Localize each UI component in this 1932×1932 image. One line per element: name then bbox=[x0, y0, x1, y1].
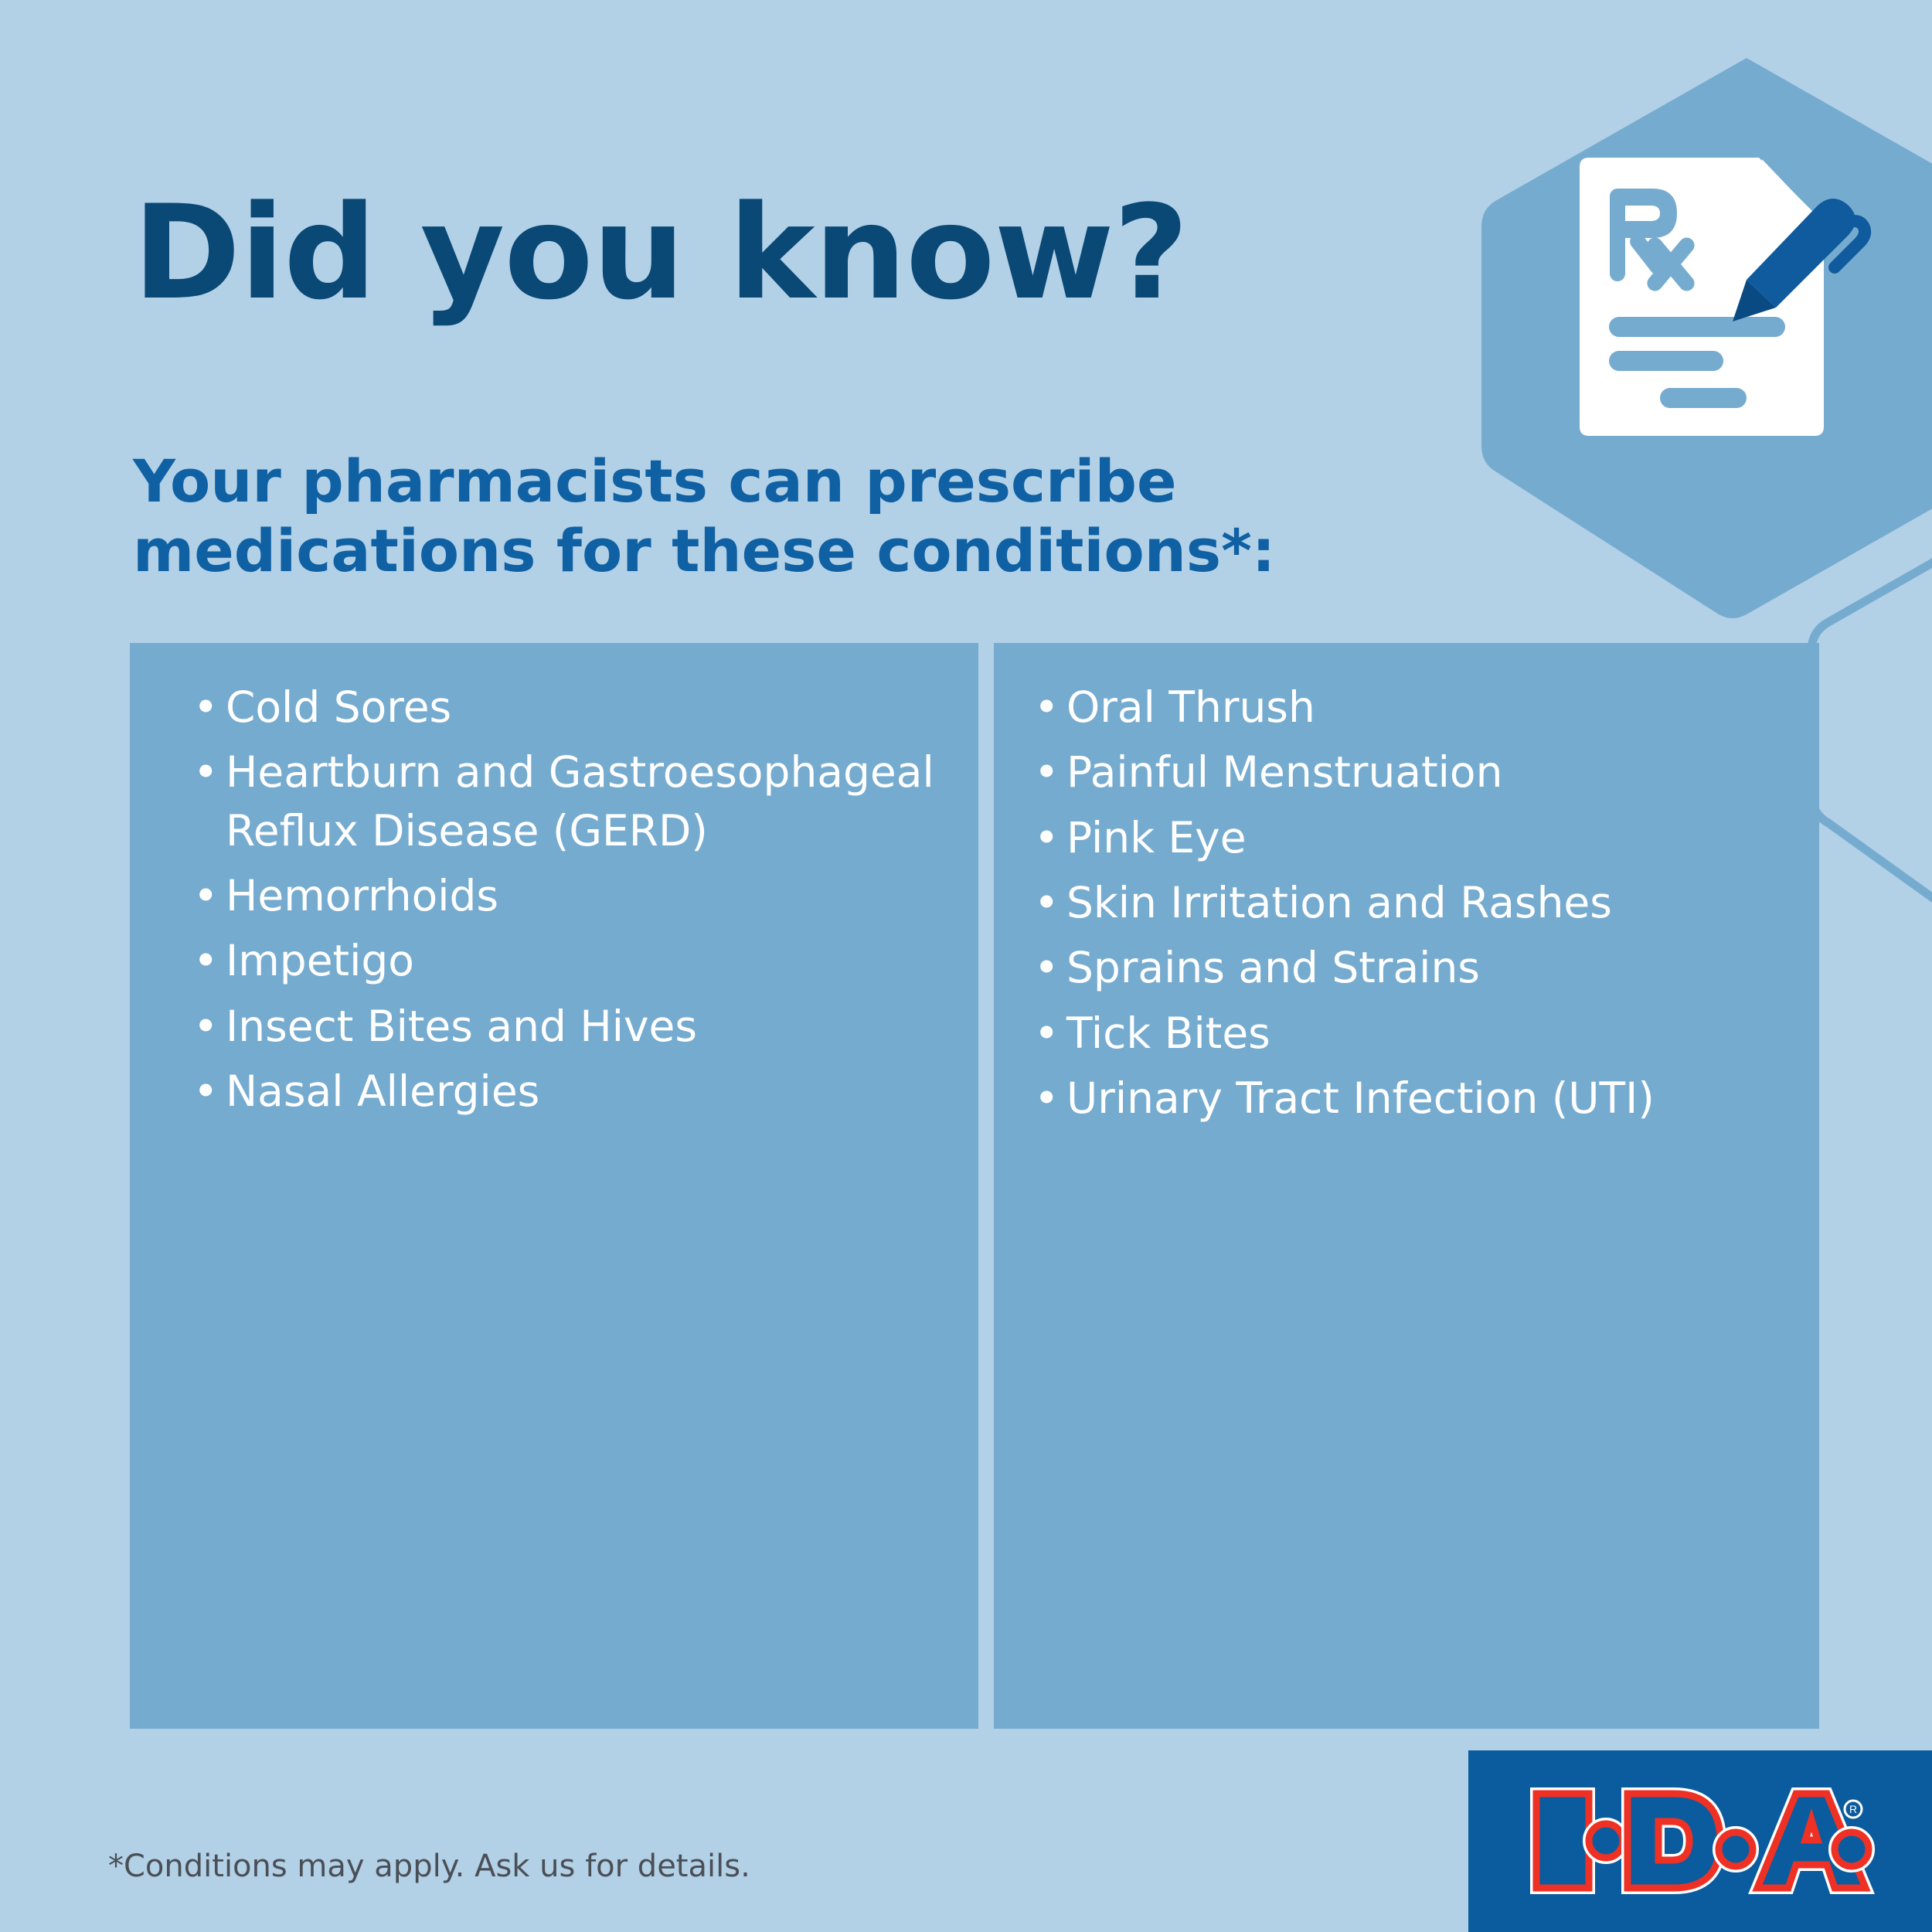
list-item: Heartburn and Gastroesophageal Reflux Di… bbox=[185, 743, 947, 860]
page-title: Did you know? bbox=[133, 188, 1408, 318]
rx-prescription-document-with-pen-icon bbox=[1569, 155, 1878, 464]
list-item: Urinary Tract Infection (UTI) bbox=[1026, 1070, 1788, 1128]
page-subtitle: Your pharmacists can prescribe medicatio… bbox=[133, 447, 1338, 585]
list-item: Cold Sores bbox=[185, 679, 947, 736]
conditions-panels: Cold SoresHeartburn and Gastroesophageal… bbox=[130, 643, 1819, 1729]
footnote-disclaimer: *Conditions may apply. Ask us for detail… bbox=[108, 1849, 750, 1884]
conditions-list-right: Oral ThrushPainful MenstruationPink EyeS… bbox=[1026, 679, 1788, 1128]
ida-pharmacy-logo: R bbox=[1529, 1783, 1880, 1899]
conditions-panel-left: Cold SoresHeartburn and Gastroesophageal… bbox=[130, 643, 978, 1729]
list-item: Sprains and Strains bbox=[1026, 939, 1788, 997]
list-item: Oral Thrush bbox=[1026, 679, 1788, 736]
conditions-list-left: Cold SoresHeartburn and Gastroesophageal… bbox=[185, 679, 947, 1121]
infographic-poster: Did you know? Your pharmacists can presc… bbox=[0, 0, 1932, 1932]
list-item: Pink Eye bbox=[1026, 809, 1788, 867]
list-item: Hemorrhoids bbox=[185, 867, 947, 925]
list-item: Impetigo bbox=[185, 932, 947, 990]
brand-logo-block: R bbox=[1468, 1750, 1932, 1932]
list-item: Insect Bites and Hives bbox=[185, 998, 947, 1056]
list-item: Skin Irritation and Rashes bbox=[1026, 874, 1788, 932]
conditions-panel-right: Oral ThrushPainful MenstruationPink EyeS… bbox=[994, 643, 1819, 1729]
list-item: Painful Menstruation bbox=[1026, 743, 1788, 801]
list-item: Tick Bites bbox=[1026, 1005, 1788, 1063]
svg-text:R: R bbox=[1849, 1803, 1857, 1815]
list-item: Nasal Allergies bbox=[185, 1063, 947, 1121]
